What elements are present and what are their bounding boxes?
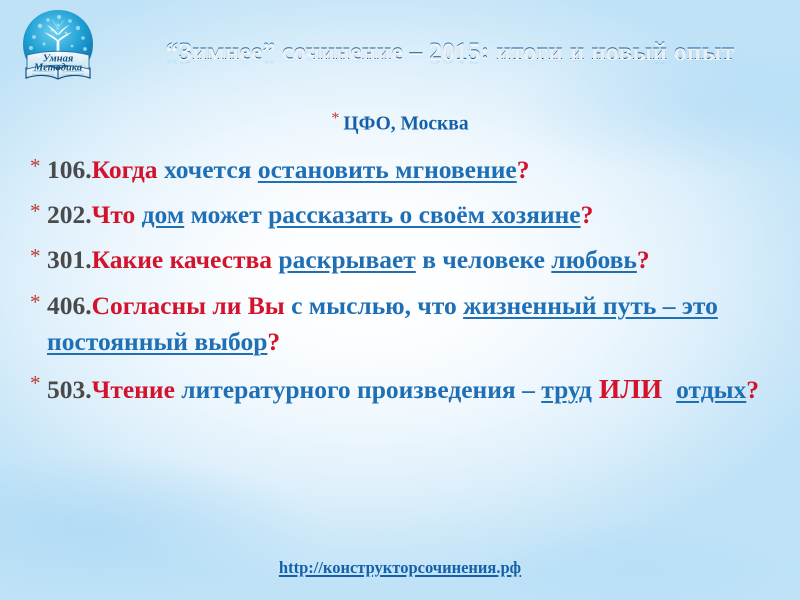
question-item: *202.Что дом может рассказать о своём хо… (30, 197, 778, 233)
umnaya-metodika-logo: Умная Методика (14, 6, 102, 90)
question-item: *503.Чтение литературного произведения –… (30, 369, 778, 408)
question-text: 503.Чтение литературного произведения – … (47, 369, 778, 408)
question-run: ? (267, 327, 280, 356)
slide-title-block: “Зимнее” сочинение – 2015: итоги и новый… (110, 36, 790, 97)
question-run: ? (581, 200, 594, 229)
site-url-link[interactable]: http://конструкторсочинения.рф (279, 558, 521, 577)
question-run: в человеке (416, 245, 551, 274)
subtitle-row: * ЦФО, Москва (0, 110, 800, 135)
question-run: ? (637, 245, 650, 274)
question-item: *406.Согласны ли Вы с мыслью, что жизнен… (30, 288, 778, 360)
question-number: 301. (47, 245, 92, 274)
question-run: хочется (164, 155, 258, 184)
question-text: 301.Какие качества раскрывает в человеке… (47, 242, 778, 278)
question-number: 106. (47, 155, 92, 184)
question-run: Чтение (92, 375, 182, 404)
question-run: с мыслью, что (291, 291, 463, 320)
question-run: ? (517, 155, 530, 184)
asterisk-bullet-icon: * (30, 201, 47, 222)
question-text: 106.Когда хочется остановить мгновение? (47, 152, 778, 188)
question-run: Согласны ли Вы (92, 291, 291, 320)
question-run: Какие качества (92, 245, 279, 274)
question-item: *106.Когда хочется остановить мгновение? (30, 152, 778, 188)
question-item: *301.Какие качества раскрывает в человек… (30, 242, 778, 278)
asterisk-bullet-icon: * (30, 292, 47, 313)
question-keyword-underlined: раскрывает (278, 245, 415, 274)
asterisk-bullet-icon: * (30, 246, 47, 267)
logo-line2: Методика (33, 63, 82, 74)
question-run: Что (92, 200, 142, 229)
question-number: 202. (47, 200, 92, 229)
footer: http://конструкторсочинения.рф (0, 558, 800, 578)
asterisk-bullet-icon: * (30, 373, 47, 394)
asterisk-bullet-icon: * (331, 110, 339, 127)
question-run: ИЛИ (592, 373, 662, 404)
question-run: Когда (92, 155, 164, 184)
question-keyword-underlined: рассказать о своём хозяине (268, 200, 580, 229)
question-number: 406. (47, 291, 92, 320)
slide-canvas: Умная Методика “Зимнее” сочинение – 2015… (0, 0, 800, 600)
question-run: литературного произведения – (181, 375, 541, 404)
subtitle-text: ЦФО, Москва (343, 113, 468, 134)
question-keyword-underlined: труд (541, 375, 592, 404)
question-list: *106.Когда хочется остановить мгновение?… (30, 152, 778, 417)
asterisk-bullet-icon: * (30, 156, 47, 177)
question-run: может (184, 200, 268, 229)
question-keyword-underlined: любовь (551, 245, 637, 274)
question-keyword-underlined: дом (142, 200, 185, 229)
question-keyword-underlined: остановить мгновение (258, 155, 517, 184)
question-keyword-underlined: отдых (676, 375, 746, 404)
page-title: “Зимнее” сочинение – 2015: итоги и новый… (110, 36, 790, 66)
question-text: 202.Что дом может рассказать о своём хоз… (47, 197, 778, 233)
question-run: ? (746, 375, 759, 404)
question-text: 406.Согласны ли Вы с мыслью, что жизненн… (47, 288, 778, 360)
question-number: 503. (47, 375, 92, 404)
